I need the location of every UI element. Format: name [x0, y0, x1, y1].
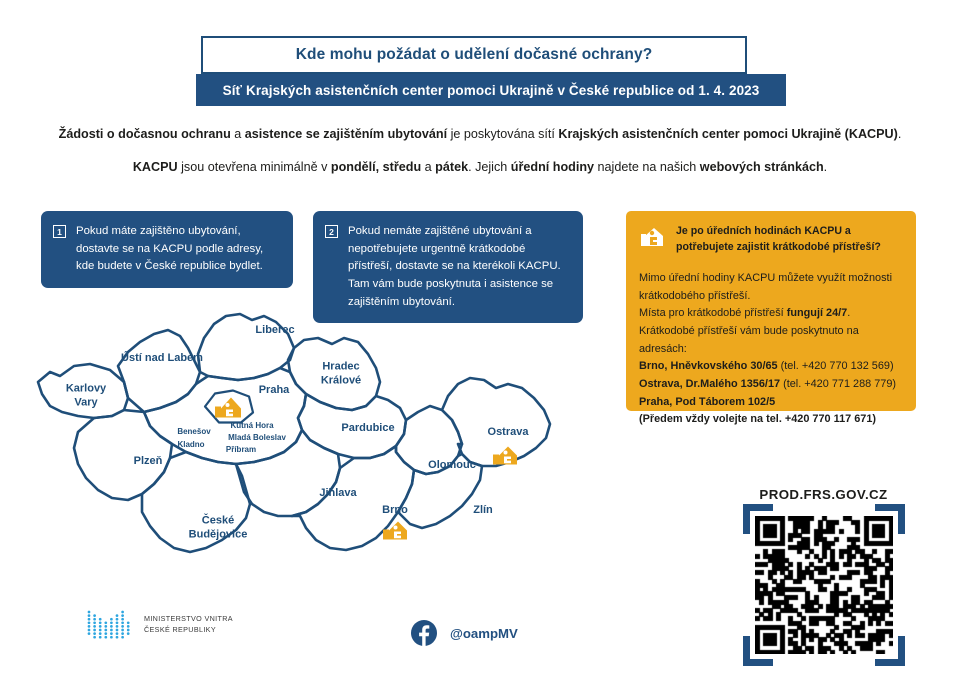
- after-hours-body: Mimo úřední hodiny KACPU můžete využít m…: [639, 270, 902, 429]
- step-badge-2: 2: [325, 225, 338, 238]
- map-label-jihlava: Jihlava: [319, 487, 356, 501]
- qr-block: PROD.FRS.GOV.CZ: [731, 487, 916, 654]
- intro-bold-5: pondělí, středu: [331, 160, 421, 174]
- facebook-icon[interactable]: [411, 620, 437, 646]
- address-place-0: Brno, Hněvkovského 30/65: [639, 360, 778, 372]
- map-label-ostrava: Ostrava: [488, 426, 529, 440]
- map-label-pardubice: Pardubice: [341, 422, 394, 436]
- map-label-praha: Praha: [259, 384, 290, 398]
- intro-bold-1: Žádosti o dočasnou ochranu: [59, 127, 231, 141]
- intro-text-1: a: [231, 127, 245, 141]
- qr-corner-bottom-right: [875, 636, 905, 666]
- intro-bold-7: úřední hodiny: [511, 160, 594, 174]
- after-hours-header: Je po úředních hodinách KACPU a potřebuj…: [639, 223, 902, 256]
- intro-text-8: .: [824, 160, 828, 174]
- note-text: (Předem vždy volejte na tel. +420 770 11…: [639, 413, 876, 425]
- after-hours-p3: Krátkodobé přístřeší vám bude poskytnuto…: [639, 323, 902, 358]
- info-box-1: 1 Pokud máte zajištěno ubytování, dostav…: [41, 211, 293, 288]
- after-hours-panel: Je po úředních hodinách KACPU a potřebuj…: [626, 211, 916, 411]
- qr-corner-top-right: [875, 504, 905, 534]
- ministry-line-2: ČESKÉ REPUBLIKY: [144, 625, 233, 636]
- p2-post: .: [847, 307, 850, 319]
- ostrava-marker: [489, 442, 523, 475]
- ministry-logo: MINISTERSTVO VNITRA ČESKÉ REPUBLIKY: [86, 608, 233, 642]
- intro-text-7: najdete na našich: [594, 160, 700, 174]
- intro-bold-2: asistence se zajištěním ubytování: [245, 127, 447, 141]
- address-phone-1: (tel. +420 771 288 779): [780, 378, 896, 390]
- step-badge-1: 1: [53, 225, 66, 238]
- info-box-1-text: Pokud máte zajištěno ubytování, dostavte…: [76, 223, 279, 276]
- after-hours-p1: Mimo úřední hodiny KACPU můžete využít m…: [639, 270, 902, 305]
- qr-frame: [755, 516, 893, 654]
- intro-bold-4: KACPU: [133, 160, 178, 174]
- map-label-hradec-kralove: HradecKrálové: [321, 360, 361, 388]
- subtitle-text: Síť Krajských asistenčních center pomoci…: [223, 83, 760, 98]
- ministry-line-1: MINISTERSTVO VNITRA: [144, 614, 233, 625]
- intro-bold-3: Krajských asistenčních center pomoci Ukr…: [558, 127, 897, 141]
- qr-corner-top-left: [743, 504, 773, 534]
- address-row: Ostrava, Dr.Malého 1356/17 (tel. +420 77…: [639, 376, 902, 394]
- map-label-karlovy-vary: KarlovyVary: [66, 382, 106, 410]
- qr-url-label: PROD.FRS.GOV.CZ: [731, 487, 916, 502]
- czech-republic-map: Liberec Ústí nad Labem HradecKrálové Kar…: [28, 286, 608, 591]
- map-label-zlin: Zlín: [473, 504, 493, 518]
- map-label-usti-nad-labem: Ústí nad Labem: [121, 352, 203, 366]
- intro-text-6: . Jejich: [468, 160, 511, 174]
- map-label-plzen: Plzeň: [134, 455, 163, 469]
- address-phone-0: (tel. +420 770 132 569): [778, 360, 894, 372]
- subtitle-bar: Síť Krajských asistenčních center pomoci…: [196, 74, 786, 106]
- intro-bold-6: pátek: [435, 160, 468, 174]
- map-label-olomouc: Olomouc: [428, 459, 476, 473]
- intro-bold-8: webových stránkách: [700, 160, 824, 174]
- facebook-handle[interactable]: @oampMV: [450, 626, 518, 641]
- address-row: Brno, Hněvkovského 30/65 (tel. +420 770 …: [639, 358, 902, 376]
- intro-paragraph-1: Žádosti o dočasnou ochranu a asistence s…: [0, 127, 960, 141]
- intro-text-3: .: [898, 127, 902, 141]
- address-row: Praha, Pod Táborem 102/5: [639, 394, 902, 412]
- after-hours-p2: Místa pro krátkodobé přístřeší fungují 2…: [639, 305, 902, 323]
- intro-text-2: je poskytována sítí: [447, 127, 558, 141]
- after-hours-heading: Je po úředních hodinách KACPU a potřebuj…: [676, 223, 902, 256]
- map-label-pribram: Příbram: [226, 445, 256, 455]
- main-title-box: Kde mohu požádat o udělení dočasné ochra…: [201, 36, 747, 74]
- intro-text-4: jsou otevřena minimálně v: [178, 160, 331, 174]
- praha-marker: [199, 385, 261, 434]
- title-block: Kde mohu požádat o udělení dočasné ochra…: [201, 36, 747, 74]
- map-label-mlada-boleslav: Mladá Boleslav: [228, 433, 286, 443]
- brno-marker: [379, 517, 413, 550]
- shelter-icon: [639, 223, 667, 256]
- address-place-1: Ostrava, Dr.Malého 1356/17: [639, 378, 780, 390]
- intro-paragraph-2: KACPU jsou otevřena minimálně v pondělí,…: [0, 160, 960, 174]
- map-label-ceske-budejovice: ČeskéBudějovice: [189, 514, 248, 542]
- ministry-dot-logo-icon: [86, 608, 134, 642]
- qr-code-image[interactable]: [755, 516, 893, 654]
- p2-pre: Místa pro krátkodobé přístřeší: [639, 307, 787, 319]
- intro-text-5: a: [421, 160, 435, 174]
- ministry-name: MINISTERSTVO VNITRA ČESKÉ REPUBLIKY: [144, 614, 233, 636]
- after-hours-note: (Předem vždy volejte na tel. +420 770 11…: [639, 411, 902, 429]
- p2-bold: fungují 24/7: [787, 307, 848, 319]
- qr-corner-bottom-left: [743, 636, 773, 666]
- facebook-block[interactable]: @oampMV: [411, 620, 518, 646]
- address-place-2: Praha, Pod Táborem 102/5: [639, 396, 775, 408]
- map-label-liberec: Liberec: [255, 324, 294, 338]
- map-label-kladno: Kladno: [177, 440, 204, 450]
- page-title: Kde mohu požádat o udělení dočasné ochra…: [296, 46, 653, 64]
